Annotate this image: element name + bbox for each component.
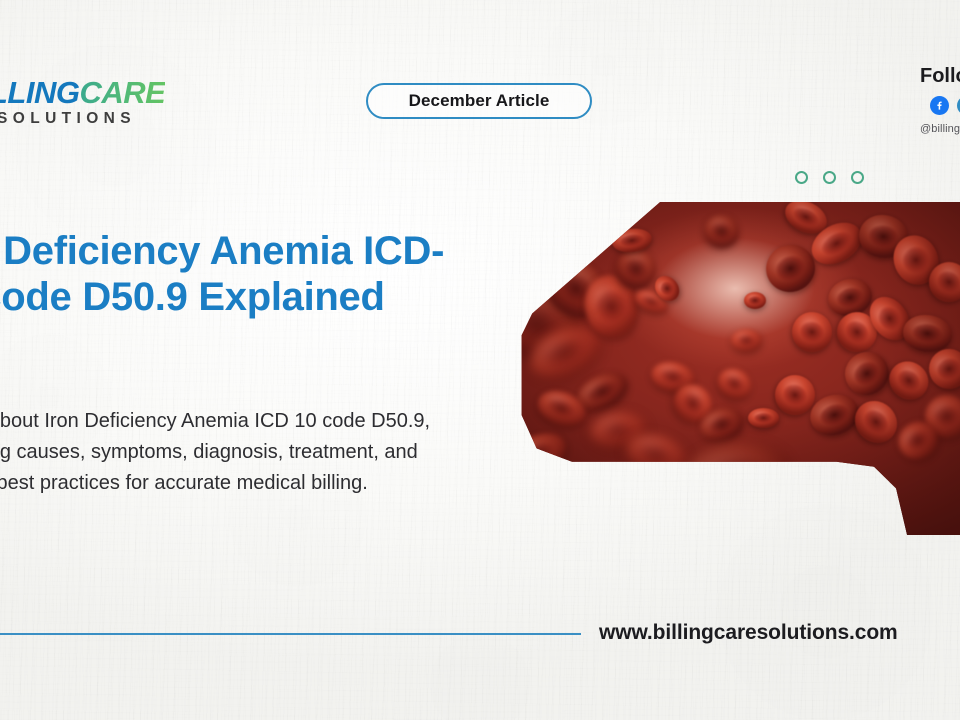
brand-logo-wordmark: BILLINGCARE xyxy=(0,77,149,108)
brand-logo-billing: BILLING xyxy=(0,75,80,110)
decorative-dots xyxy=(795,171,864,184)
decorative-dot-icon xyxy=(795,171,808,184)
brand-logo-care: CARE xyxy=(80,75,166,110)
facebook-icon[interactable] xyxy=(930,96,949,115)
brand-logo[interactable]: BILLINGCARE SOLUTIONS xyxy=(0,77,149,127)
decorative-dot-icon xyxy=(851,171,864,184)
decorative-dot-icon xyxy=(823,171,836,184)
social-icon-row xyxy=(930,96,960,115)
footer-divider xyxy=(0,633,581,635)
article-description: Learn about Iron Deficiency Anemia ICD 1… xyxy=(0,406,480,499)
article-month-badge[interactable]: December Article xyxy=(366,83,592,119)
brand-logo-subtitle: SOLUTIONS xyxy=(0,111,149,127)
article-banner: BILLINGCARE SOLUTIONS December Article F… xyxy=(0,0,960,720)
page-title: Iron Deficiency Anemia ICD-10 Code D50.9… xyxy=(0,228,478,321)
follow-us-title: Follow Us xyxy=(920,66,960,86)
article-month-badge-label: December Article xyxy=(409,91,550,111)
follow-us-block: Follow Us @billingcaresolutions xyxy=(920,66,960,135)
website-url[interactable]: www.billingcaresolutions.com xyxy=(599,621,898,645)
social-handle[interactable]: @billingcaresolutions xyxy=(920,123,960,135)
